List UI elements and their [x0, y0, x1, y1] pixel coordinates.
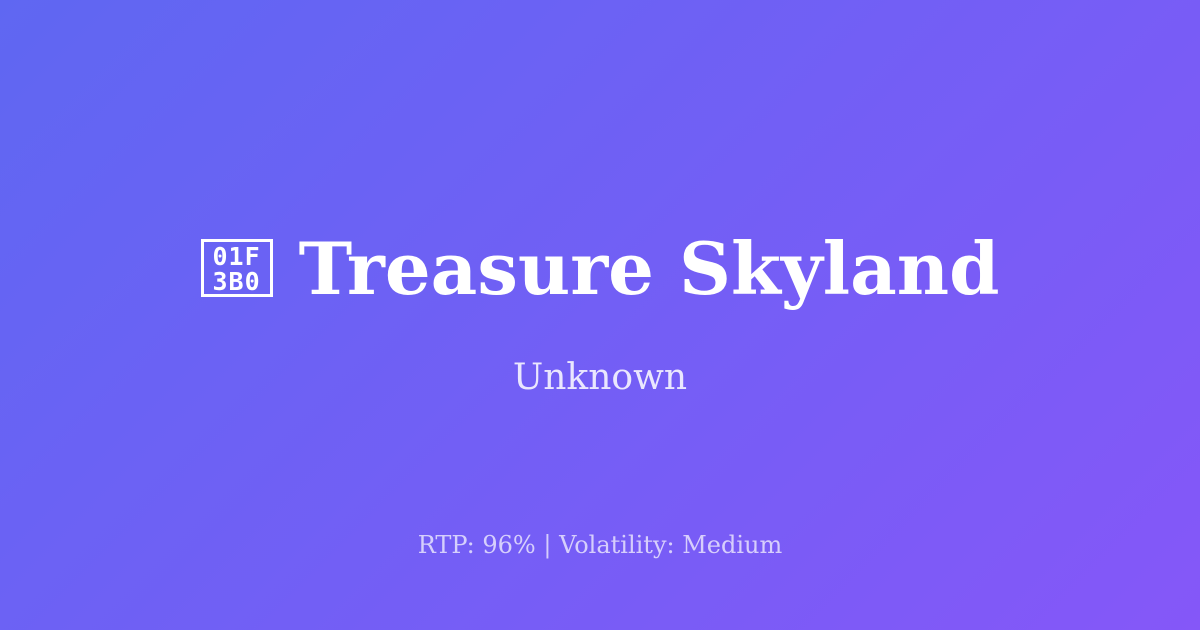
- slot-machine-icon-codepoint-bottom: 3B0: [213, 269, 261, 294]
- page-title: Treasure Skyland: [299, 231, 1000, 307]
- title-row: 01F 3B0 Treasure Skyland: [201, 231, 1000, 307]
- provider-label: Unknown: [513, 356, 687, 399]
- game-preview-card: 01F 3B0 Treasure Skyland Unknown RTP: 96…: [0, 0, 1200, 630]
- slot-machine-icon: 01F 3B0: [201, 239, 273, 297]
- slot-machine-icon-codepoint-top: 01F: [213, 244, 261, 269]
- game-stats-line: RTP: 96% | Volatility: Medium: [0, 531, 1200, 560]
